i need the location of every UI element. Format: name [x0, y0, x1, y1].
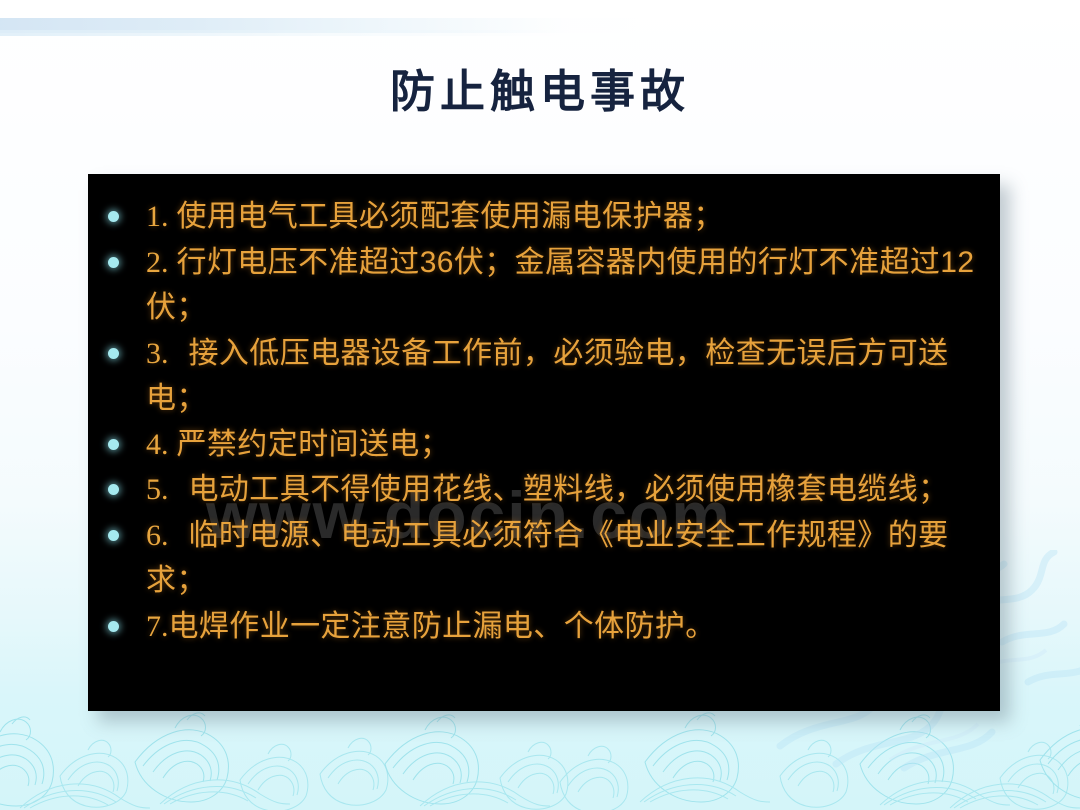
list-item: 6.临时电源、电动工具必须符合《电业安全工作规程》的要求； [88, 513, 1000, 604]
list-item-number: 6. [146, 519, 169, 552]
list-item: 5.电动工具不得使用花线、塑料线，必须使用橡套电缆线； [88, 467, 1000, 513]
list-item: 4.严禁约定时间送电； [88, 422, 1000, 468]
list-item: 2.行灯电压不准超过36伏；金属容器内使用的行灯不准超过12伏； [88, 240, 1000, 331]
bullet-dot-icon [108, 621, 119, 632]
list-item-text: 临时电源、电动工具必须符合《电业安全工作规程》的要求； [146, 519, 949, 598]
list-item-text: 电焊作业一定注意防止漏电、个体防护。 [169, 610, 716, 643]
list-item-number: 5. [146, 473, 169, 506]
list-item-text: 严禁约定时间送电； [177, 428, 451, 461]
list-item: 7.电焊作业一定注意防止漏电、个体防护。 [88, 604, 1000, 650]
list-item-text: 电动工具不得使用花线、塑料线，必须使用橡套电缆线； [189, 473, 949, 506]
bullet-dot-icon [108, 348, 119, 359]
list-item-number: 1. [146, 200, 169, 233]
content-panel: www.docin.com 1.使用电气工具必须配套使用漏电保护器； 2.行灯电… [88, 174, 1000, 711]
list-item-number: 4. [146, 428, 169, 461]
list-item: 1.使用电气工具必须配套使用漏电保护器； [88, 194, 1000, 240]
bullet-dot-icon [108, 484, 119, 495]
bullet-dot-icon [108, 439, 119, 450]
bullet-dot-icon [108, 257, 119, 268]
list-item-number: 2. [146, 246, 169, 279]
list-item-text: 接入低压电器设备工作前，必须验电，检查无误后方可送电； [146, 337, 949, 416]
bullet-dot-icon [108, 530, 119, 541]
list-item-text: 行灯电压不准超过36伏；金属容器内使用的行灯不准超过12伏； [146, 246, 974, 325]
list-item: 3.接入低压电器设备工作前，必须验电，检查无误后方可送电； [88, 331, 1000, 422]
bullet-dot-icon [108, 211, 119, 222]
list-item-text: 使用电气工具必须配套使用漏电保护器； [177, 200, 724, 233]
page-title: 防止触电事故 [0, 66, 1080, 119]
bullet-list: 1.使用电气工具必须配套使用漏电保护器； 2.行灯电压不准超过36伏；金属容器内… [88, 194, 1000, 649]
top-decorative-ribbon-secondary [0, 30, 560, 36]
list-item-number: 3. [146, 337, 169, 370]
slide-canvas: 防止触电事故 www.docin.com 1.使用电气工具必须配套使用漏电保护器… [0, 0, 1080, 810]
list-item-number: 7. [146, 610, 169, 643]
